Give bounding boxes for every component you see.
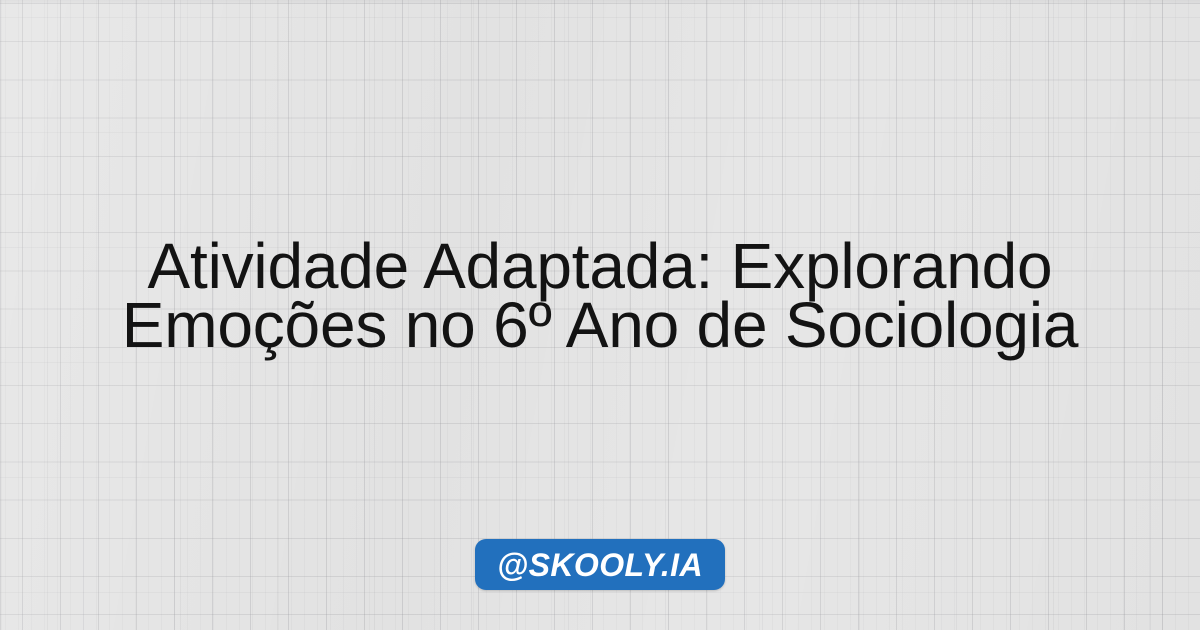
- page-title: Atividade Adaptada: Explorando Emoções n…: [0, 237, 1200, 355]
- page-title-line-2: Emoções no 6º Ano de Sociologia: [20, 296, 1180, 355]
- page-title-line-1: Atividade Adaptada: Explorando: [20, 237, 1180, 296]
- handle-badge-container: @SKOOLY.IA: [0, 539, 1200, 590]
- og-card: Atividade Adaptada: Explorando Emoções n…: [0, 0, 1200, 630]
- brand-handle-badge: @SKOOLY.IA: [475, 539, 725, 590]
